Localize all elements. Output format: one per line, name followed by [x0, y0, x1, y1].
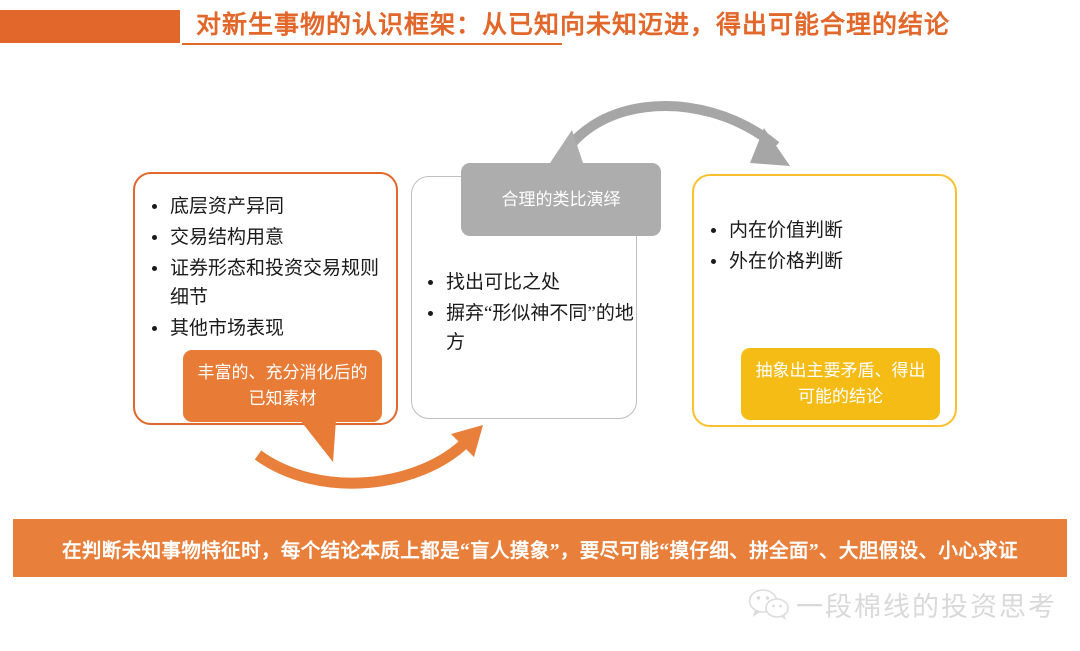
wechat-icon — [748, 588, 790, 622]
list-item: 摒弃“形似神不同”的地方 — [424, 299, 639, 357]
orange-arc-arrow — [258, 425, 483, 483]
callout-analogical-reasoning: 合理的类比演绎 — [461, 163, 661, 236]
footer-account-name: 一段棉线的投资思考 — [796, 585, 1057, 624]
list-item: 找出可比之处 — [424, 268, 639, 297]
callout-conclusion: 抽象出主要矛盾、得出可能的结论 — [741, 348, 940, 420]
callout-known-materials: 丰富的、充分消化后的已知素材 — [183, 350, 382, 422]
list-item: 底层资产异同 — [148, 192, 393, 221]
summary-banner: 在判断未知事物特征时，每个结论本质上都是“盲人摸象”，要尽可能“摸仔细、拼全面”… — [13, 519, 1067, 577]
callout-tail-known-materials — [300, 418, 360, 464]
slide-canvas: 对新生事物的认识框架：从已知向未知迈进，得出可能合理的结论 底层资产异同 交易结… — [0, 0, 1080, 651]
list-item: 证券形态和投资交易规则细节 — [148, 254, 393, 312]
list-item: 外在价格判断 — [707, 247, 952, 276]
list-item: 交易结构用意 — [148, 223, 393, 252]
footer-signature: 一段棉线的投资思考 — [748, 585, 1057, 624]
bullet-list-known-materials: 底层资产异同 交易结构用意 证券形态和投资交易规则细节 其他市场表现 — [148, 192, 393, 345]
list-item: 内在价值判断 — [707, 216, 952, 245]
list-item: 其他市场表现 — [148, 314, 393, 343]
bullet-list-conclusion: 内在价值判断 外在价格判断 — [707, 216, 952, 278]
bullet-list-analogical-reasoning: 找出可比之处 摒弃“形似神不同”的地方 — [424, 268, 639, 359]
summary-banner-text: 在判断未知事物特征时，每个结论本质上都是“盲人摸象”，要尽可能“摸仔细、拼全面”… — [62, 534, 1018, 563]
